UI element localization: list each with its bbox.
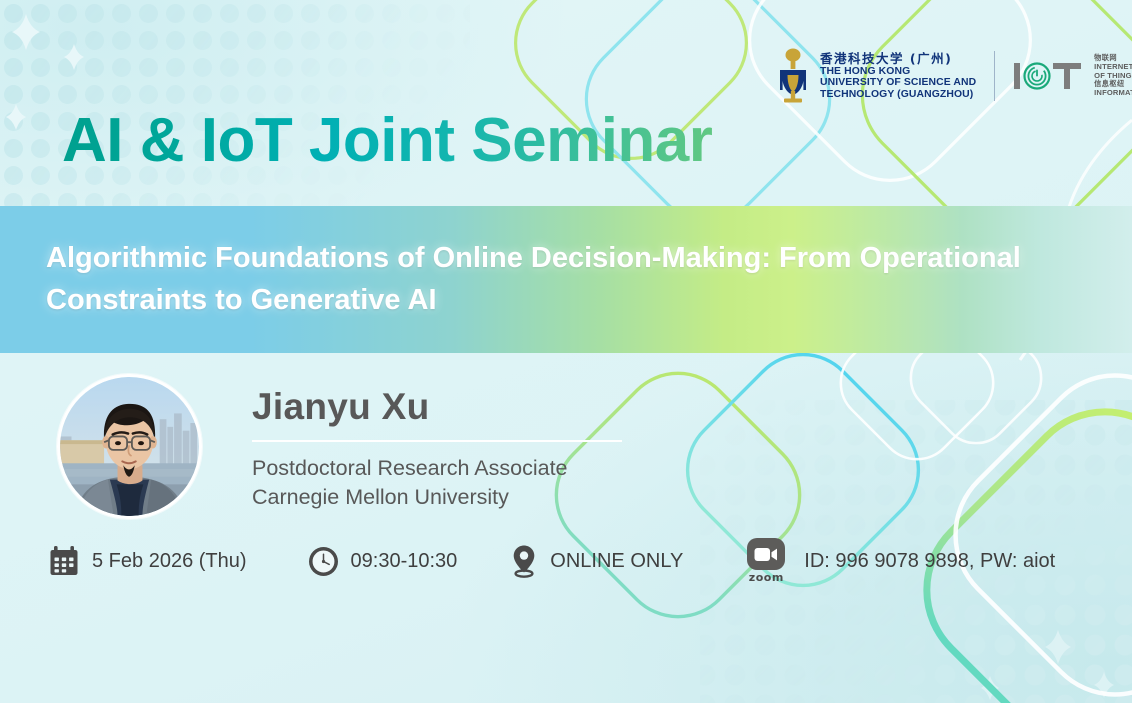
event-meeting-item: zoom ID: 996 9078 9898, PW: aiot (743, 538, 1055, 584)
speaker-role-line1: Postdoctoral Research Associate (252, 454, 622, 483)
event-date-text: 5 Feb 2026 (Thu) (92, 550, 247, 573)
iot-logo-text: 物联网 INTERNET OF THINGS 信息枢纽 INFORMATION … (1094, 54, 1132, 98)
calendar-icon (47, 544, 81, 578)
logo-divider (994, 51, 995, 101)
event-meeting-text: ID: 996 9078 9898, PW: aiot (804, 550, 1055, 573)
event-time-text: 09:30-10:30 (351, 550, 458, 573)
seminar-poster: 香港科技大学 (广州) THE HONG KONG UNIVERSITY OF … (0, 0, 1132, 703)
event-info-row: 5 Feb 2026 (Thu) 09:30-10:30 (47, 538, 1055, 584)
seminar-subtitle: Algorithmic Foundations of Online Decisi… (0, 238, 1116, 320)
hkust-emblem-icon (774, 48, 812, 104)
event-time-item: 09:30-10:30 (307, 545, 458, 578)
hkust-logo-text: 香港科技大学 (广州) THE HONG KONG UNIVERSITY OF … (820, 52, 976, 101)
event-date-item: 5 Feb 2026 (Thu) (47, 544, 247, 578)
page-title: AI & IoT Joint Seminar (62, 110, 712, 172)
hkust-logo: 香港科技大学 (广州) THE HONG KONG UNIVERSITY OF … (774, 48, 976, 104)
clock-icon (307, 545, 340, 578)
hkust-chinese-name: 香港科技大学 (广州) (820, 52, 976, 66)
zoom-wordmark: zoom (749, 571, 784, 584)
name-divider (252, 440, 622, 442)
location-pin-icon (509, 544, 539, 578)
speaker-avatar (57, 374, 202, 519)
event-venue-item: ONLINE ONLY (509, 544, 683, 578)
hkust-english-line1: THE HONG KONG (820, 66, 976, 78)
event-venue-text: ONLINE ONLY (550, 550, 683, 573)
hkust-english-line2: UNIVERSITY OF SCIENCE AND (820, 77, 976, 89)
hkust-english-line3: TECHNOLOGY (GUANGZHOU) (820, 89, 976, 101)
subtitle-banner: Algorithmic Foundations of Online Decisi… (0, 206, 1132, 353)
zoom-badge (747, 538, 785, 570)
speaker-affiliation: Carnegie Mellon University (252, 483, 622, 512)
speaker-name: Jianyu Xu (252, 388, 622, 427)
zoom-icon[interactable]: zoom (743, 538, 789, 584)
iot-english-sub: INFORMATION HUB (1094, 89, 1132, 98)
speaker-block: Jianyu Xu Postdoctoral Research Associat… (57, 374, 622, 519)
iot-wordmark-icon (1013, 61, 1087, 91)
iot-logo: 物联网 INTERNET OF THINGS 信息枢纽 INFORMATION … (1013, 54, 1132, 98)
speaker-info: Jianyu Xu Postdoctoral Research Associat… (252, 374, 622, 511)
logo-bar: 香港科技大学 (广州) THE HONG KONG UNIVERSITY OF … (774, 44, 1132, 108)
